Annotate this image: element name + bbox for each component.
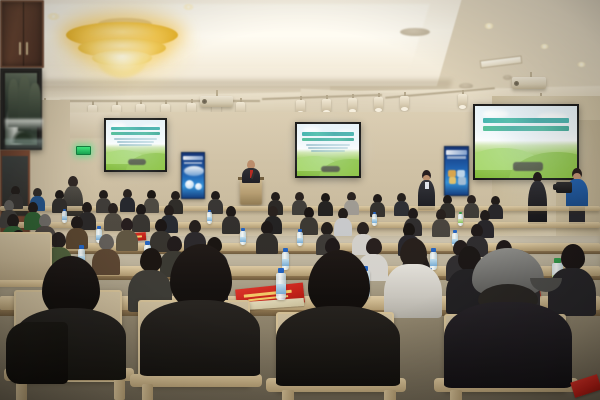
projector-lens-icon: [514, 81, 519, 86]
torso: [222, 216, 240, 234]
door-handle[interactable]: [26, 42, 28, 55]
downlight-icon: [484, 23, 494, 29]
torso: [444, 302, 572, 388]
painting-water: [5, 139, 43, 149]
banner-subline: [447, 156, 465, 158]
screen-light-bloom: [90, 108, 182, 184]
spotlight-icon: [400, 96, 409, 110]
ceiling-speaker-icon: [503, 75, 512, 80]
crystal-chandelier: [62, 14, 182, 76]
painting-artwork: [5, 73, 37, 145]
bottle-label: [240, 237, 246, 242]
rollup-banner-right: [444, 146, 469, 196]
audience-member: [432, 209, 450, 236]
shoulder-camera: [556, 182, 572, 193]
banner-headline: [446, 150, 466, 155]
projector-lens-icon: [202, 99, 207, 104]
draped-coat: [6, 322, 68, 384]
banner-photo-collage: [457, 170, 465, 177]
conference-hall-photo: [0, 0, 600, 400]
bottle-label: [297, 238, 303, 243]
attendee-shirt: [425, 182, 429, 189]
banner-subline: [184, 162, 202, 164]
chair-leg: [114, 378, 125, 400]
banner-photo-collage: [449, 177, 456, 184]
foreground-attendee-center-left: [140, 244, 260, 372]
water-bottle: [458, 212, 463, 226]
banner-circle-graphic: [195, 183, 202, 190]
water-bottle: [297, 229, 303, 246]
spotlight-icon: [348, 98, 357, 112]
attendee-coat: [528, 181, 547, 224]
water-bottle: [207, 210, 212, 224]
standing-attendee-center-right: [418, 170, 435, 210]
banner-headline: [183, 156, 202, 161]
head: [51, 232, 66, 248]
spotlight-icon: [374, 97, 383, 111]
banner-photo-collage: [448, 170, 456, 177]
exit-sign: [76, 146, 91, 155]
chair-leg: [282, 390, 294, 400]
chair-leg: [142, 384, 153, 400]
torso: [318, 201, 333, 216]
torso: [276, 306, 400, 386]
audience-member: [222, 206, 240, 233]
door-handle[interactable]: [19, 42, 21, 55]
ceiling-vent-icon: [400, 28, 430, 36]
foreground-attendee-center: [276, 250, 400, 382]
torso: [432, 219, 450, 237]
standing-attendee-far-right: [528, 172, 547, 224]
torso: [140, 300, 260, 376]
banner-cloud-graphic: [184, 166, 204, 176]
head: [400, 238, 427, 267]
water-bottle: [240, 228, 246, 245]
chair-leg: [384, 390, 396, 400]
rollup-banner-left: [181, 152, 205, 199]
videographer: [566, 168, 588, 224]
spotlight-icon: [322, 99, 331, 113]
audience-member: [318, 193, 333, 215]
head: [99, 234, 114, 250]
screen-light-bloom: [282, 112, 376, 190]
landscape-painting: [0, 68, 42, 150]
banner-circle-graphic: [185, 180, 194, 189]
foreground-attendee-with-cap: [444, 248, 572, 388]
bottle-label: [207, 217, 212, 221]
camera-lens-icon: [553, 184, 558, 190]
downlight-icon: [577, 62, 586, 67]
downlight-icon: [540, 44, 549, 49]
door-center-seam: [23, 2, 24, 66]
bottle-label: [458, 219, 463, 223]
chair-leg: [450, 390, 462, 400]
banner-photo-collage: [458, 177, 466, 185]
exit-door-left[interactable]: [0, 0, 44, 68]
